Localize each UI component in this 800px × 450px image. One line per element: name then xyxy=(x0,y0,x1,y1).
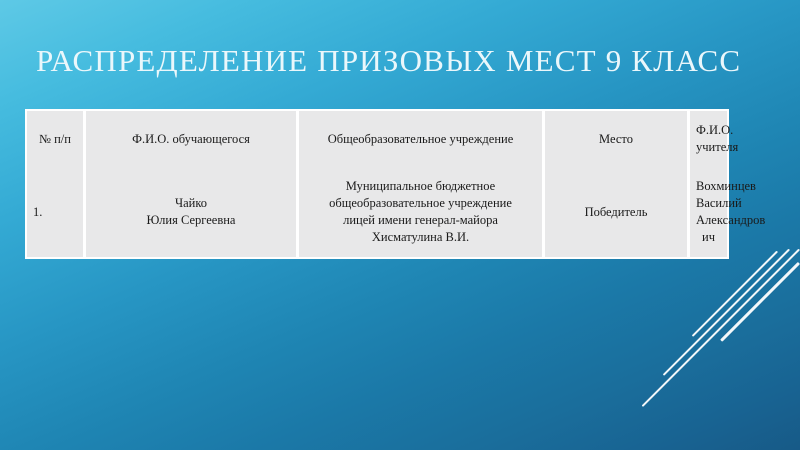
header-teacher-line-2: учителя xyxy=(696,139,721,156)
header-cell-number: № п/п xyxy=(27,111,86,167)
teacher-line-1: Вохминцев xyxy=(696,178,721,195)
school-line-2: общеобразовательное учреждение xyxy=(305,195,536,212)
header-cell-student-name: Ф.И.О. обучающегося xyxy=(86,111,299,167)
header-teacher-line-1: Ф.И.О. xyxy=(696,122,721,139)
school-line-4: Хисматулина В.И. xyxy=(305,229,536,246)
teacher-line-3: Александров xyxy=(696,212,721,229)
teacher-line-4: ич xyxy=(696,229,721,246)
cell-teacher: Вохминцев Василий Александров ич xyxy=(690,167,727,257)
header-cell-place: Место xyxy=(545,111,690,167)
header-cell-teacher: Ф.И.О. учителя xyxy=(690,111,727,167)
streak-line-2 xyxy=(663,248,790,375)
student-surname: Чайко xyxy=(92,195,290,212)
cell-student-name: Чайко Юлия Сергеевна xyxy=(86,167,299,257)
teacher-line-2: Василий xyxy=(696,195,721,212)
streak-line-3 xyxy=(692,251,778,337)
table-body: 1. Чайко Юлия Сергеевна Муниципальное бю… xyxy=(27,167,727,257)
cell-row-number: 1. xyxy=(27,167,86,257)
cell-school: Муниципальное бюджетное общеобразователь… xyxy=(299,167,545,257)
header-cell-school: Общеобразовательное учреждение xyxy=(299,111,545,167)
school-line-3: лицей имени генерал-майора xyxy=(305,212,536,229)
school-line-1: Муниципальное бюджетное xyxy=(305,178,536,195)
streak-line-4 xyxy=(720,262,800,342)
prize-distribution-table: № п/п Ф.И.О. обучающегося Общеобразовате… xyxy=(27,111,727,257)
presentation-slide: Распределение призовых мест 9 класс № п/… xyxy=(0,0,800,450)
table-row: 1. Чайко Юлия Сергеевна Муниципальное бю… xyxy=(27,167,727,257)
table-header-row: № п/п Ф.И.О. обучающегося Общеобразовате… xyxy=(27,111,727,167)
page-title: Распределение призовых мест 9 класс xyxy=(36,40,766,82)
streak-line-1 xyxy=(641,248,800,407)
table-header: № п/п Ф.И.О. обучающегося Общеобразовате… xyxy=(27,111,727,167)
student-given-names: Юлия Сергеевна xyxy=(92,212,290,229)
cell-place: Победитель xyxy=(545,167,690,257)
